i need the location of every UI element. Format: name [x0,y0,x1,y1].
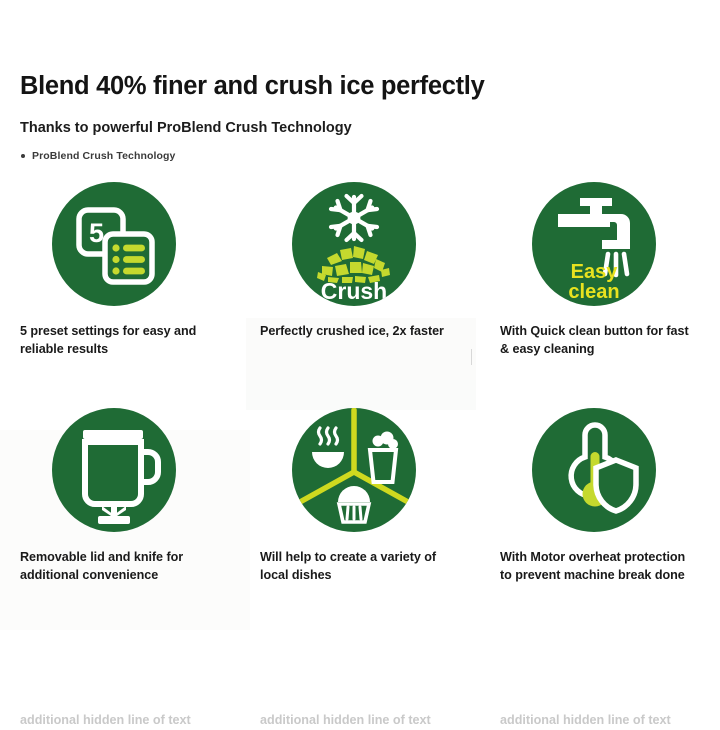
variety-dishes-icon [292,408,416,532]
feature-item: Crush Perfectly crushed ice, 2x faster [240,182,480,359]
feature-caption: With Quick clean button for fast & easy … [500,323,700,359]
jug-lid-icon [83,430,143,439]
crush-label: Crush [321,278,387,304]
feature-caption: Removable lid and knife for additional c… [20,549,220,585]
feature-item: 5 5 preset settings for easy and reliabl… [0,182,240,359]
badge-wrapper [254,408,454,532]
header-block: Blend 40% finer and crush ice perfectly … [20,72,700,137]
badge-wrapper [14,408,214,532]
feature-caption: Will help to create a variety of local d… [260,549,460,585]
drink-cup-icon [370,431,398,482]
preset-settings-icon: 5 [52,182,176,306]
blender-jug-icon [52,408,176,532]
feature-caption: With Motor overheat protection to preven… [500,549,700,585]
features-row-2: Removable lid and knife for additional c… [0,408,720,585]
features-row-1: 5 5 preset settings for easy and reliabl… [0,182,720,359]
clipped-caption: additional hidden line of text [480,712,720,730]
clipped-caption: additional hidden line of text [240,712,480,730]
badge-wrapper [494,408,694,532]
feature-grid-page: Blend 40% finer and crush ice perfectly … [0,0,720,720]
feature-badge: Crush [292,182,416,306]
feature-badge: 5 [52,182,176,306]
feature-caption: Perfectly crushed ice, 2x faster [260,323,444,341]
easy-clean-label-line1: Easy [571,261,619,283]
blade-icon [98,504,130,524]
technology-bullet-label: ProBlend Crush Technology [32,150,175,162]
feature-badge [532,408,656,532]
clipped-caption-row: additional hidden line of text additiona… [0,712,720,730]
soup-bowl-icon [312,428,344,468]
feature-badge [52,408,176,532]
feature-item: Will help to create a variety of local d… [240,408,480,585]
feature-badge: Easy clean [532,182,656,306]
feature-caption: 5 preset settings for easy and reliable … [20,323,220,359]
feature-item: Removable lid and knife for additional c… [0,408,240,585]
feature-item: With Motor overheat protection to preven… [480,408,720,585]
badge-wrapper: Easy clean [494,182,694,306]
page-subtitle: Thanks to powerful ProBlend Crush Techno… [20,100,700,137]
easy-clean-faucet-icon: Easy clean [532,182,656,306]
easy-clean-label-line2: clean [568,281,619,303]
badge-wrapper: Crush [254,182,454,306]
feature-badge [292,408,416,532]
feature-item: Easy clean With Quick clean button for f… [480,182,720,359]
technology-bullet: ProBlend Crush Technology [21,150,175,162]
page-title: Blend 40% finer and crush ice perfectly [20,72,700,100]
bullet-dot-icon [21,154,25,158]
overheat-protection-icon [532,408,656,532]
cupcake-icon [338,486,370,522]
faucet-icon [558,198,630,249]
preset-count-label: 5 [89,218,104,248]
features-grid: 5 5 preset settings for easy and reliabl… [0,182,720,585]
badge-wrapper: 5 [14,182,214,306]
clipped-caption: additional hidden line of text [0,712,240,730]
shield-icon [596,460,636,511]
crushed-ice-icon: Crush [292,182,416,306]
